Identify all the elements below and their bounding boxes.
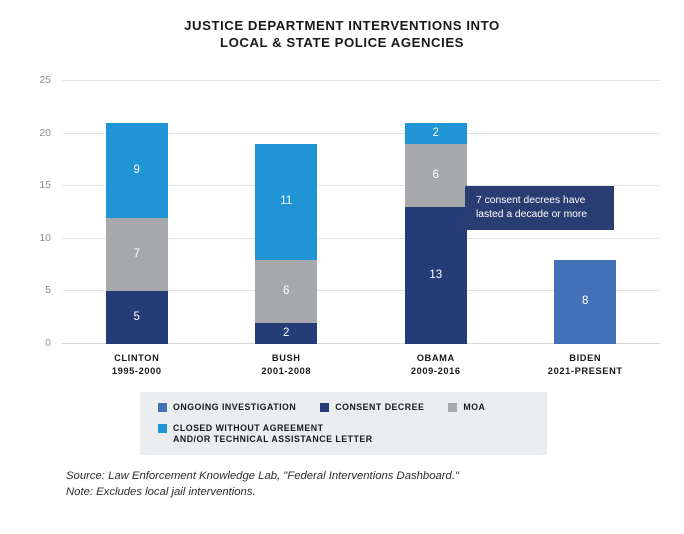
bar-value-label: 2 — [433, 128, 439, 140]
bar-value-label: 5 — [134, 312, 140, 324]
bar-segment[interactable]: 2 — [255, 323, 317, 344]
x-axis-category-years: 2021-PRESENT — [505, 365, 665, 378]
x-axis-category-name: CLINTON — [114, 353, 159, 363]
page-title: JUSTICE DEPARTMENT INTERVENTIONS INTO LO… — [0, 17, 684, 51]
bar-value-label: 11 — [280, 196, 292, 208]
x-axis-category-name: BIDEN — [569, 353, 601, 363]
legend-label: CLOSED WITHOUT AGREEMENT AND/OR TECHNICA… — [173, 423, 373, 445]
bar-value-label: 6 — [433, 170, 439, 182]
x-axis-category-years: 1995-2000 — [57, 365, 217, 378]
title-line-2: LOCAL & STATE POLICE AGENCIES — [0, 34, 684, 51]
bar-value-label: 6 — [283, 286, 289, 298]
x-axis-category-name: BUSH — [272, 353, 301, 363]
annotation-callout: 7 consent decrees have lasted a decade o… — [465, 186, 614, 230]
y-axis-tick-label: 5 — [45, 284, 51, 296]
bar-value-label: 13 — [429, 270, 442, 282]
title-line-1: JUSTICE DEPARTMENT INTERVENTIONS INTO — [184, 18, 500, 33]
callout-text: 7 consent decrees have lasted a decade o… — [476, 194, 604, 221]
legend-row: ONGOING INVESTIGATIONCONSENT DECREEMOA — [158, 402, 509, 413]
legend-label: ONGOING INVESTIGATION — [173, 402, 296, 413]
legend-swatch-icon — [158, 424, 167, 433]
bar-segment[interactable]: 6 — [255, 260, 317, 323]
bar-value-label: 9 — [134, 165, 140, 177]
legend-swatch-icon — [158, 403, 167, 412]
x-axis-category-label: CLINTON1995-2000 — [57, 352, 217, 377]
legend-row: CLOSED WITHOUT AGREEMENT AND/OR TECHNICA… — [158, 423, 397, 445]
bar-segment[interactable]: 6 — [405, 144, 467, 207]
x-axis-category-years: 2001-2008 — [206, 365, 366, 378]
legend-item[interactable]: ONGOING INVESTIGATION — [158, 402, 296, 413]
legend-swatch-icon — [448, 403, 457, 412]
legend-swatch-icon — [320, 403, 329, 412]
legend-label: CONSENT DECREE — [335, 402, 424, 413]
bar-segment[interactable]: 7 — [106, 218, 168, 292]
bar-value-label: 2 — [283, 328, 289, 340]
legend-item[interactable]: MOA — [448, 402, 485, 413]
y-axis-tick-label: 0 — [45, 337, 51, 349]
callout-tail-icon — [448, 212, 466, 231]
x-axis-category-years: 2009-2016 — [356, 365, 516, 378]
bar-segment[interactable]: 5 — [106, 291, 168, 344]
y-axis-tick-label: 10 — [39, 232, 51, 244]
y-axis-tick-label: 25 — [39, 74, 51, 86]
legend-item[interactable]: CLOSED WITHOUT AGREEMENT AND/OR TECHNICA… — [158, 423, 373, 445]
x-axis-category-label: BUSH2001-2008 — [206, 352, 366, 377]
bar-segment[interactable]: 8 — [554, 260, 616, 344]
bar-segment[interactable]: 11 — [255, 144, 317, 260]
footnote: Source: Law Enforcement Knowledge Lab, "… — [66, 468, 459, 500]
y-axis-tick-label: 20 — [39, 127, 51, 139]
bar-value-label: 8 — [582, 296, 588, 308]
footnote-note: Note: Excludes local jail interventions. — [66, 484, 459, 500]
bar-value-label: 7 — [134, 249, 140, 261]
y-axis-tick-label: 15 — [39, 179, 51, 191]
bar-segment[interactable]: 2 — [405, 123, 467, 144]
footnote-source: Source: Law Enforcement Knowledge Lab, "… — [66, 468, 459, 484]
legend-item[interactable]: CONSENT DECREE — [320, 402, 424, 413]
x-axis-category-label: OBAMA2009-2016 — [356, 352, 516, 377]
bar-segment[interactable]: 9 — [106, 123, 168, 218]
legend: ONGOING INVESTIGATIONCONSENT DECREEMOACL… — [140, 392, 547, 455]
x-axis-category-label: BIDEN2021-PRESENT — [505, 352, 665, 377]
legend-label: MOA — [463, 402, 485, 413]
chart-container: JUSTICE DEPARTMENT INTERVENTIONS INTO LO… — [0, 0, 684, 534]
x-axis-category-name: OBAMA — [417, 353, 455, 363]
gridline-25: 25 — [62, 80, 660, 81]
